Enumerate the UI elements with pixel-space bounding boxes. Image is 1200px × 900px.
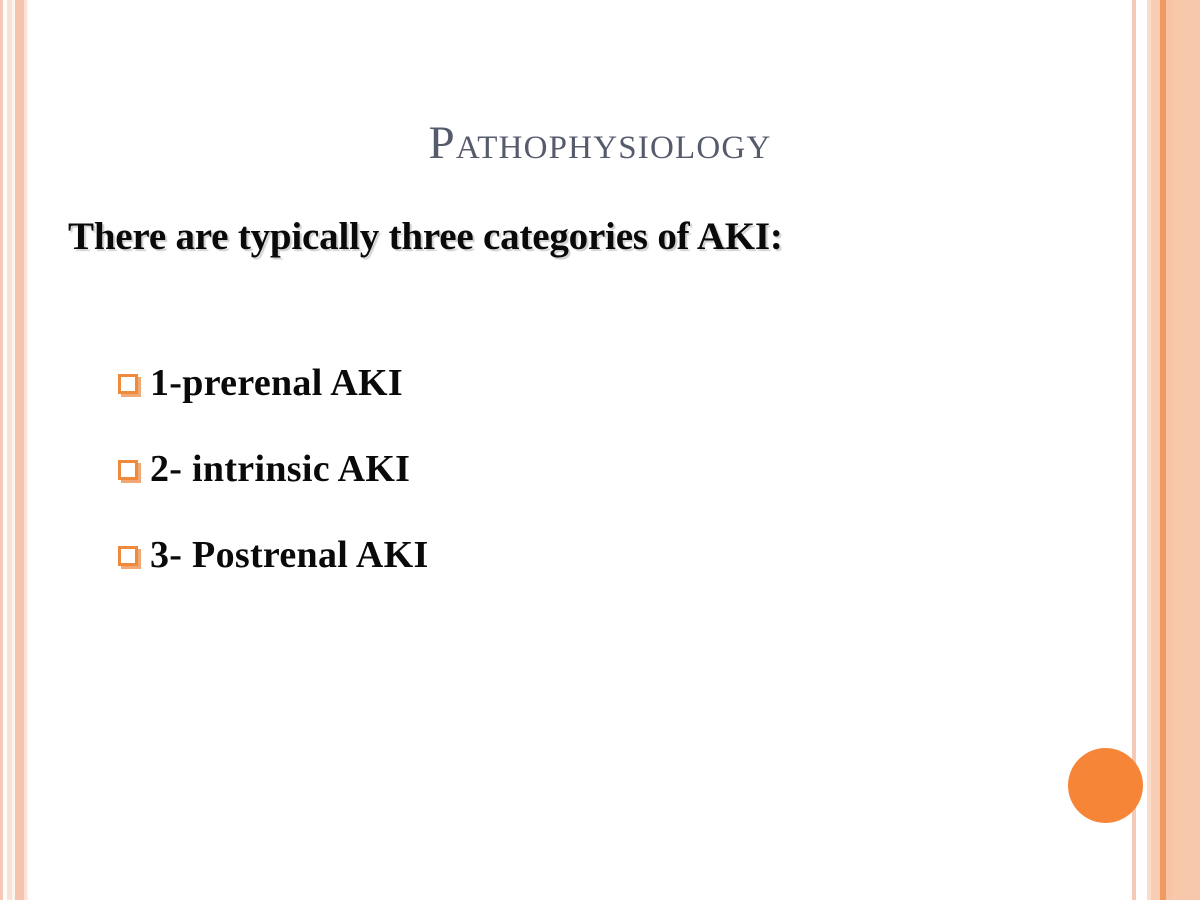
slide-title: Pathophysiology — [0, 118, 1200, 170]
hollow-square-bullet-icon — [118, 546, 138, 566]
slide-subtitle: There are typically three categories of … — [68, 214, 783, 259]
list-item: 2- intrinsic AKI — [118, 426, 918, 512]
list-item-label: 1-prerenal AKI — [150, 361, 403, 405]
hollow-square-bullet-icon — [118, 460, 138, 480]
bullet-list: 1-prerenal AKI 2- intrinsic AKI 3- Postr… — [118, 340, 918, 598]
list-item-label: 3- Postrenal AKI — [150, 533, 429, 577]
list-item: 3- Postrenal AKI — [118, 512, 918, 598]
slide-canvas: Pathophysiology There are typically thre… — [0, 0, 1200, 900]
list-item: 1-prerenal AKI — [118, 340, 918, 426]
list-item-label: 2- intrinsic AKI — [150, 447, 410, 491]
orange-circle-icon — [1068, 748, 1143, 823]
hollow-square-bullet-icon — [118, 374, 138, 394]
